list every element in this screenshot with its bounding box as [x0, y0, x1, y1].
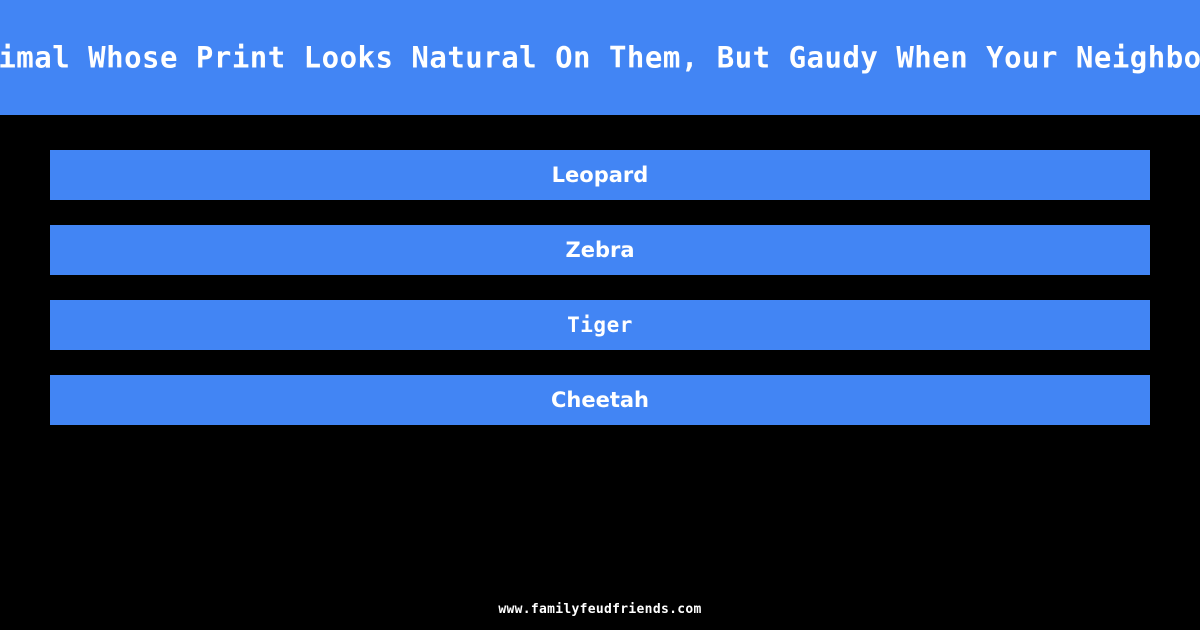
- answer-label-1: Leopard: [552, 165, 649, 186]
- answer-row-3[interactable]: Tiger: [50, 300, 1150, 350]
- answer-card: Name An Animal Whose Print Looks Natural…: [0, 0, 1200, 630]
- answer-label-3: Tiger: [567, 315, 633, 336]
- answers-list: Leopard Zebra Tiger Cheetah: [50, 150, 1150, 425]
- answer-row-2[interactable]: Zebra: [50, 225, 1150, 275]
- answer-label-4: Cheetah: [551, 390, 649, 411]
- footer-site-url: www.familyfeudfriends.com: [498, 602, 701, 617]
- answer-row-1[interactable]: Leopard: [50, 150, 1150, 200]
- answer-label-2: Zebra: [565, 240, 634, 261]
- answer-row-4[interactable]: Cheetah: [50, 375, 1150, 425]
- question-text: Name An Animal Whose Print Looks Natural…: [0, 43, 1200, 72]
- footer: www.familyfeudfriends.com: [0, 598, 1200, 617]
- question-banner: Name An Animal Whose Print Looks Natural…: [0, 0, 1200, 115]
